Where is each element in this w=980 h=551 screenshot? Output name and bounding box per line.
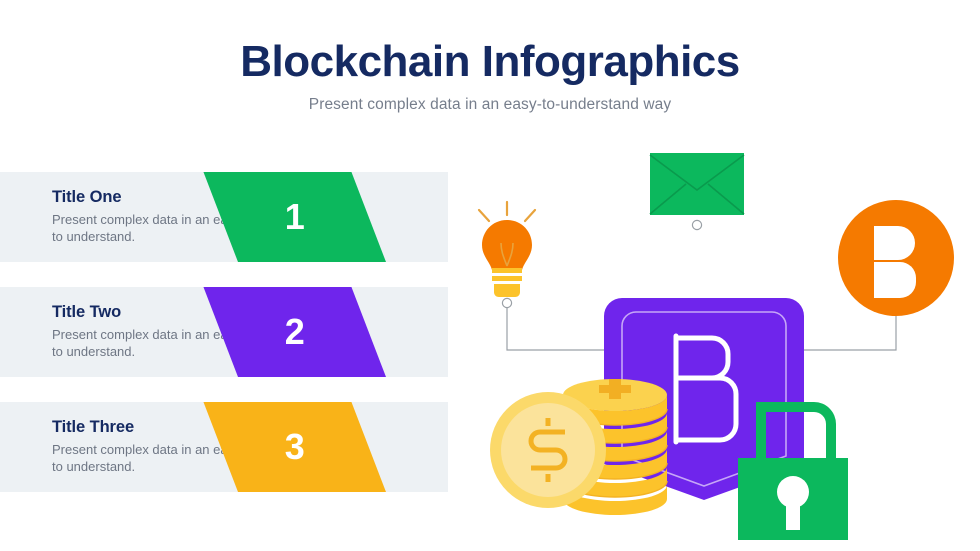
page-subtitle: Present complex data in an easy-to-under… bbox=[0, 96, 980, 114]
list-item-description: Present complex data in an easy to under… bbox=[52, 442, 247, 475]
blockchain-illustration bbox=[460, 140, 980, 540]
list-item-description: Present complex data in an easy to under… bbox=[52, 327, 247, 360]
numbered-list: Title One Present complex data in an eas… bbox=[0, 172, 450, 492]
lightbulb-icon bbox=[479, 202, 535, 297]
list-item[interactable]: Title Three Present complex data in an e… bbox=[0, 402, 448, 492]
number-badge-label: 3 bbox=[221, 402, 369, 492]
slide-root: Blockchain Infographics Present complex … bbox=[0, 0, 980, 551]
list-item-description: Present complex data in an easy to under… bbox=[52, 212, 247, 245]
number-badge-3: 3 bbox=[203, 402, 386, 492]
header: Blockchain Infographics Present complex … bbox=[0, 38, 980, 114]
page-title: Blockchain Infographics bbox=[0, 38, 980, 86]
connector-node-envelope bbox=[692, 220, 701, 229]
number-badge-label: 2 bbox=[221, 287, 369, 377]
list-item[interactable]: Title One Present complex data in an eas… bbox=[0, 172, 448, 262]
list-item[interactable]: Title Two Present complex data in an eas… bbox=[0, 287, 448, 377]
number-badge-label: 1 bbox=[221, 172, 369, 262]
envelope-icon bbox=[650, 153, 744, 215]
number-badge-2: 2 bbox=[203, 287, 386, 377]
bitcoin-circle-icon bbox=[838, 200, 954, 316]
connector-node-lightbulb bbox=[502, 298, 511, 307]
number-badge-1: 1 bbox=[203, 172, 386, 262]
coin-stack-icon bbox=[490, 379, 667, 515]
